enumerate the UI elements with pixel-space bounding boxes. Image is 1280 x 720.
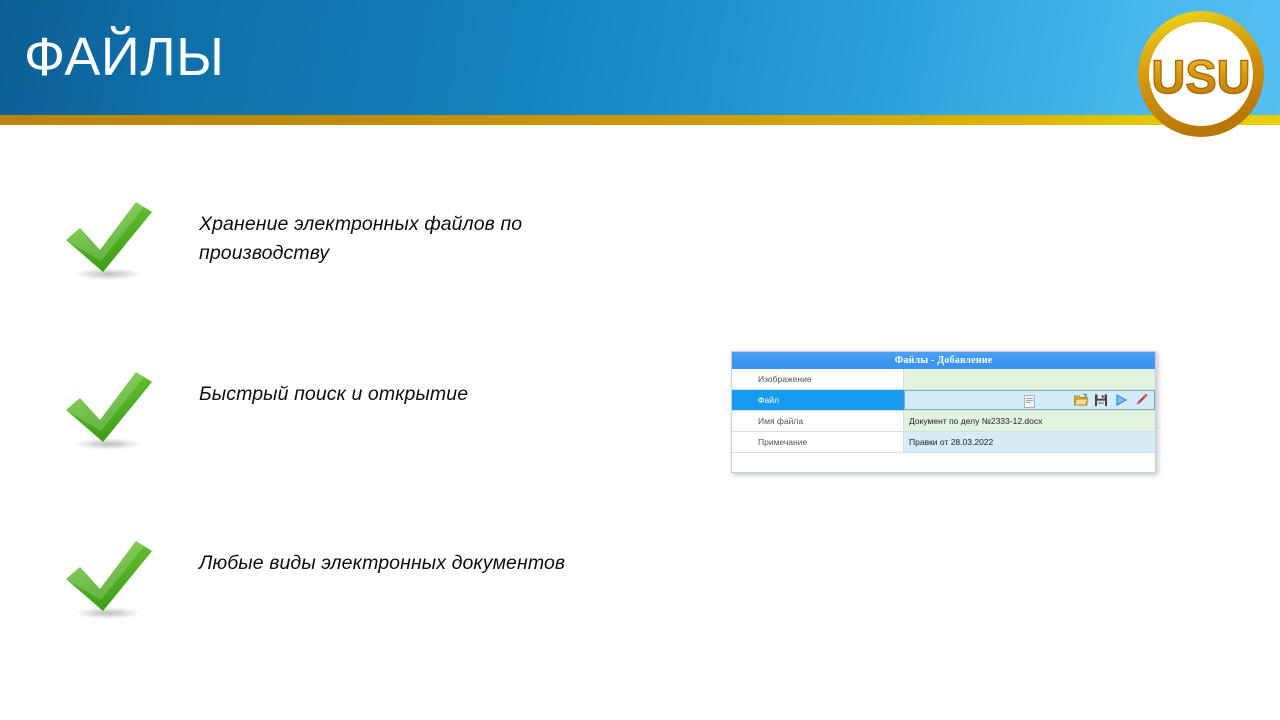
field-value-image[interactable] [904, 369, 1155, 389]
edit-pencil-icon[interactable] [1134, 393, 1148, 408]
table-row[interactable]: Имя файла Документ по делу №2333-12.docx [732, 411, 1155, 432]
feature-text-2: Быстрый поиск и открытие [199, 380, 619, 409]
files-add-dialog: Файлы - Добавление Изображение Файл [731, 351, 1156, 473]
document-thumbnail-icon [1024, 395, 1035, 408]
dialog-footer-area [732, 453, 1155, 473]
dialog-title-bar: Файлы - Добавление [732, 352, 1155, 369]
feature-item-1: Хранение электронных файлов по производс… [0, 198, 640, 288]
table-row[interactable]: Примечание Правки от 28.03.2022 [732, 432, 1155, 453]
field-value-file[interactable] [904, 390, 1155, 410]
field-label-note: Примечание [732, 432, 904, 452]
usu-logo: USU [1135, 8, 1267, 140]
feature-text-1: Хранение электронных файлов по производс… [199, 210, 619, 268]
field-label-image: Изображение [732, 369, 904, 389]
field-value-note[interactable]: Правки от 28.03.2022 [904, 432, 1155, 452]
green-check-icon [56, 198, 160, 284]
feature-text-3: Любые виды электронных документов [199, 549, 619, 578]
gold-divider-bar [0, 115, 1280, 125]
file-action-icons [1074, 393, 1148, 408]
green-check-icon [56, 537, 160, 623]
field-value-filename[interactable]: Документ по делу №2333-12.docx [904, 411, 1155, 431]
table-row[interactable]: Файл [732, 390, 1155, 411]
open-folder-icon[interactable] [1074, 393, 1088, 408]
feature-item-2: Быстрый поиск и открытие [0, 368, 640, 458]
table-row[interactable]: Изображение [732, 369, 1155, 390]
field-label-file: Файл [732, 390, 904, 410]
feature-item-3: Любые виды электронных документов [0, 537, 640, 627]
page-title: ФАЙЛЫ [24, 22, 224, 92]
save-disk-icon[interactable] [1094, 393, 1108, 408]
play-icon[interactable] [1114, 393, 1128, 408]
green-check-icon [56, 368, 160, 454]
field-label-filename: Имя файла [732, 411, 904, 431]
usu-logo-text: USU [1151, 50, 1250, 103]
